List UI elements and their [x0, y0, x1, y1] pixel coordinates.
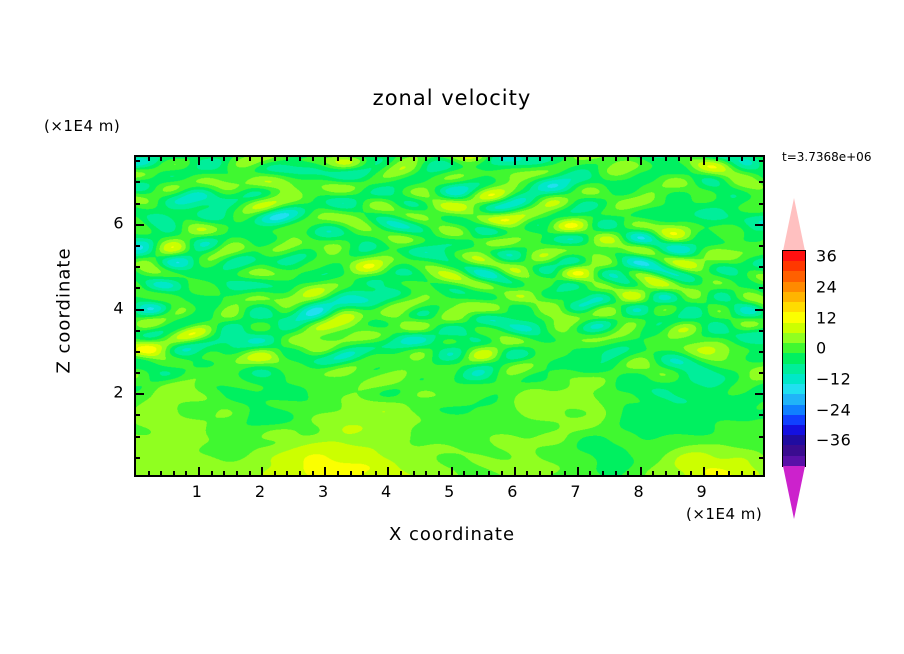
axis-tick [375, 156, 377, 161]
axis-tick [211, 471, 213, 476]
colorbar-tick-label: 36 [816, 247, 837, 266]
axis-tick [261, 467, 263, 476]
axis-tick [759, 372, 764, 374]
colorbar-band [783, 282, 805, 292]
axis-tick [438, 471, 440, 476]
axis-tick [551, 471, 553, 476]
colorbar-over-arrow [783, 198, 805, 251]
axis-tick [375, 471, 377, 476]
y-tick-label: 4 [98, 298, 124, 317]
axis-tick [425, 156, 427, 161]
axis-tick [160, 471, 162, 476]
axis-tick [135, 203, 140, 205]
y-axis-unit-label: (×1E4 m) [44, 117, 120, 135]
axis-tick [173, 471, 175, 476]
axis-tick [652, 471, 654, 476]
axis-tick [261, 156, 263, 165]
axis-tick [716, 471, 718, 476]
colorbar-tick-label: −24 [816, 400, 851, 419]
colorbar-band [783, 415, 805, 425]
axis-tick [577, 156, 579, 165]
axis-tick [387, 467, 389, 476]
axis-tick [564, 471, 566, 476]
axis-tick [759, 266, 764, 268]
axis-tick [324, 467, 326, 476]
axis-tick [135, 287, 140, 289]
axis-tick [223, 156, 225, 161]
axis-tick [716, 156, 718, 161]
colorbar-band [783, 425, 805, 435]
axis-tick [198, 467, 200, 476]
axis-tick [463, 156, 465, 161]
colorbar [783, 251, 805, 466]
colorbar-band [783, 374, 805, 384]
axis-tick [135, 372, 140, 374]
axis-tick [362, 471, 364, 476]
axis-tick [615, 471, 617, 476]
colorbar-band [783, 292, 805, 302]
y-axis-title: Z coordinate [54, 231, 75, 391]
axis-tick [640, 467, 642, 476]
axis-tick [755, 309, 764, 311]
axis-tick [589, 156, 591, 161]
x-tick-label: 3 [318, 482, 329, 501]
axis-tick [249, 471, 251, 476]
axis-tick [665, 471, 667, 476]
x-axis-unit-label: (×1E4 m) [686, 505, 762, 523]
axis-tick [476, 156, 478, 161]
axis-tick [337, 156, 339, 161]
colorbar-band [783, 405, 805, 415]
axis-tick [665, 156, 667, 161]
axis-tick [703, 467, 705, 476]
axis-tick [551, 156, 553, 161]
x-tick-label: 4 [381, 482, 392, 501]
colorbar-band [783, 261, 805, 271]
axis-tick [185, 156, 187, 161]
axis-tick [728, 156, 730, 161]
axis-tick [350, 471, 352, 476]
axis-tick [728, 471, 730, 476]
colorbar-band [783, 445, 805, 455]
axis-tick [299, 156, 301, 161]
axis-tick [741, 471, 743, 476]
axis-tick [759, 436, 764, 438]
axis-tick [249, 156, 251, 161]
axis-tick [286, 156, 288, 161]
axis-tick [236, 471, 238, 476]
axis-tick [539, 156, 541, 161]
axis-tick [759, 160, 764, 162]
colorbar-band [783, 323, 805, 333]
colorbar-band [783, 435, 805, 445]
axis-tick [564, 156, 566, 161]
axis-tick [312, 471, 314, 476]
axis-tick [451, 467, 453, 476]
axis-tick [173, 156, 175, 161]
axis-tick [312, 156, 314, 161]
colorbar-band [783, 333, 805, 343]
axis-tick [274, 156, 276, 161]
axis-tick [324, 156, 326, 165]
axis-tick [135, 436, 140, 438]
axis-tick [337, 471, 339, 476]
colorbar-band [783, 343, 805, 353]
axis-tick [211, 156, 213, 161]
contour-plot-area [134, 155, 765, 477]
colorbar-tick-label: −12 [816, 369, 851, 388]
y-tick-label: 2 [98, 383, 124, 402]
axis-tick [236, 156, 238, 161]
axis-tick [299, 471, 301, 476]
axis-tick [615, 156, 617, 161]
axis-tick [350, 156, 352, 161]
colorbar-tick-label: 0 [816, 339, 827, 358]
axis-tick [678, 156, 680, 161]
axis-tick [488, 471, 490, 476]
axis-tick [577, 467, 579, 476]
axis-tick [514, 156, 516, 165]
axis-tick [135, 160, 140, 162]
axis-tick [223, 471, 225, 476]
colorbar-tick-label: −36 [816, 431, 851, 450]
axis-tick [753, 471, 755, 476]
x-tick-label: 1 [192, 482, 203, 501]
y-tick-label: 6 [98, 213, 124, 232]
axis-tick [755, 393, 764, 395]
axis-tick [463, 471, 465, 476]
axis-tick [438, 156, 440, 161]
page-title: zonal velocity [0, 86, 904, 110]
axis-tick [135, 245, 140, 247]
axis-tick [135, 393, 144, 395]
axis-tick [135, 309, 144, 311]
colorbar-tick-label: 24 [816, 277, 837, 296]
axis-tick [185, 471, 187, 476]
axis-tick [627, 156, 629, 161]
axis-tick [690, 471, 692, 476]
x-tick-label: 5 [444, 482, 455, 501]
axis-tick [678, 471, 680, 476]
axis-tick [526, 471, 528, 476]
x-tick-label: 8 [633, 482, 644, 501]
axis-tick [274, 471, 276, 476]
axis-tick [413, 156, 415, 161]
axis-tick [160, 156, 162, 161]
axis-tick [488, 156, 490, 161]
axis-tick [286, 471, 288, 476]
axis-tick [400, 471, 402, 476]
axis-tick [476, 471, 478, 476]
axis-tick [135, 351, 140, 353]
axis-tick [514, 467, 516, 476]
colorbar-band [783, 302, 805, 312]
axis-tick [451, 156, 453, 165]
axis-tick [526, 156, 528, 161]
axis-tick [753, 156, 755, 161]
colorbar-band [783, 394, 805, 404]
axis-tick [759, 203, 764, 205]
axis-tick [198, 156, 200, 165]
axis-tick [602, 156, 604, 161]
axis-tick [148, 156, 150, 161]
axis-tick [135, 266, 140, 268]
axis-tick [539, 471, 541, 476]
axis-tick [135, 414, 140, 416]
axis-tick [755, 224, 764, 226]
axis-tick [741, 156, 743, 161]
colorbar-band [783, 271, 805, 281]
colorbar-band [783, 364, 805, 374]
axis-tick [501, 471, 503, 476]
contour-field-canvas [136, 157, 763, 475]
axis-tick [759, 330, 764, 332]
axis-tick [135, 224, 144, 226]
axis-tick [589, 471, 591, 476]
axis-tick [759, 351, 764, 353]
axis-tick [135, 457, 140, 459]
axis-tick [413, 471, 415, 476]
colorbar-band [783, 353, 805, 363]
axis-tick [362, 156, 364, 161]
colorbar-under-arrow [783, 466, 805, 519]
x-tick-label: 2 [255, 482, 266, 501]
colorbar-band [783, 456, 805, 466]
colorbar-tick-label: 12 [816, 308, 837, 327]
colorbar-band [783, 312, 805, 322]
axis-tick [425, 471, 427, 476]
axis-tick [627, 471, 629, 476]
x-axis-title: X coordinate [0, 524, 904, 545]
colorbar-band [783, 251, 805, 261]
time-annotation: t=3.7368e+06 [782, 150, 871, 164]
x-tick-label: 7 [570, 482, 581, 501]
axis-tick [602, 471, 604, 476]
axis-tick [690, 156, 692, 161]
axis-tick [135, 181, 140, 183]
axis-tick [652, 156, 654, 161]
colorbar-band [783, 384, 805, 394]
x-tick-label: 6 [507, 482, 518, 501]
axis-tick [759, 457, 764, 459]
axis-tick [640, 156, 642, 165]
axis-tick [148, 471, 150, 476]
axis-tick [759, 245, 764, 247]
axis-tick [759, 287, 764, 289]
axis-tick [400, 156, 402, 161]
axis-tick [703, 156, 705, 165]
axis-tick [387, 156, 389, 165]
axis-tick [135, 330, 140, 332]
x-tick-label: 9 [697, 482, 708, 501]
axis-tick [759, 414, 764, 416]
axis-tick [759, 181, 764, 183]
axis-tick [501, 156, 503, 161]
